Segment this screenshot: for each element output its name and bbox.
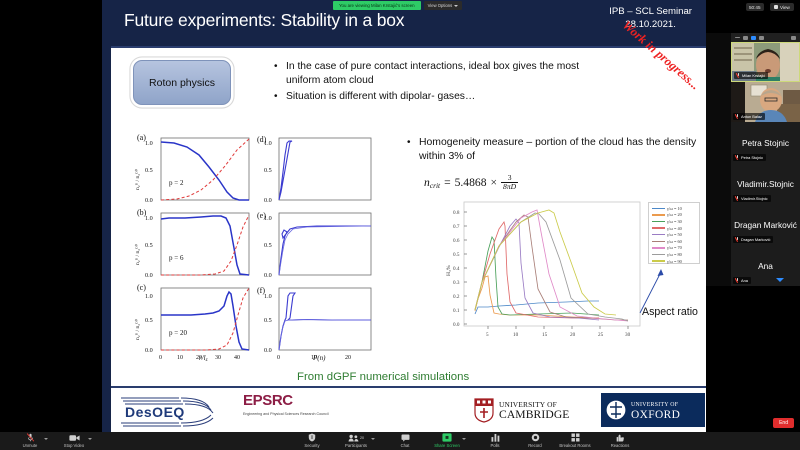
participant-display-name: Ana bbox=[758, 261, 773, 271]
toolbar-button-breakout-rooms[interactable]: Breakout Rooms bbox=[553, 434, 597, 448]
svg-text:20: 20 bbox=[570, 332, 576, 338]
svg-text:0.5: 0.5 bbox=[145, 317, 153, 324]
participant-display-name: Petra Stojnic bbox=[742, 138, 789, 148]
legend-item: γ/ω = 80 bbox=[652, 251, 696, 258]
bullet-dot-icon: • bbox=[274, 90, 286, 104]
svg-text:p = 2: p = 2 bbox=[169, 179, 184, 187]
bullet-text: Situation is different with dipolar- gas… bbox=[286, 90, 604, 104]
svg-text:0.0: 0.0 bbox=[264, 197, 272, 204]
participant-display-name: Vladimir.Stojnic bbox=[737, 179, 794, 189]
participant-nametag: Petra Stojnic bbox=[733, 154, 766, 161]
figure-density-panels: (a) p = 2 1.0 0.5 0.0 n₂ᴰ / n₂ᴰ⁰ (b) p =… bbox=[127, 130, 377, 360]
legend-label: γ/ω = 90 bbox=[667, 259, 682, 264]
svg-text:DesOEQ: DesOEQ bbox=[125, 404, 185, 420]
roton-physics-label: Roton physics bbox=[149, 77, 215, 89]
slide-left-bar bbox=[102, 0, 111, 432]
microphone-muted-icon bbox=[736, 196, 739, 201]
formula-numerator: 3 bbox=[506, 174, 514, 182]
svg-text:20: 20 bbox=[345, 355, 351, 360]
toolbar-label: Participants bbox=[345, 443, 367, 448]
microphone-muted-icon bbox=[26, 434, 35, 442]
meeting-timer: 50:45 bbox=[746, 3, 764, 11]
svg-text:n₂ᴰ / n₂ᴰ⁰: n₂ᴰ / n₂ᴰ⁰ bbox=[134, 318, 141, 340]
svg-text:0.7: 0.7 bbox=[453, 224, 460, 230]
aspect-ratio-annotation: Aspect ratio bbox=[642, 306, 698, 318]
shield-icon bbox=[308, 434, 316, 442]
legend-color-swatch bbox=[652, 241, 665, 242]
svg-text:0.5: 0.5 bbox=[264, 242, 272, 249]
svg-text:0.5: 0.5 bbox=[145, 242, 153, 249]
bullet-list-right: • Homogeneity measure – portion of the c… bbox=[407, 136, 697, 167]
epsrc-logo: EPSRC Engineering and Physical Sciences … bbox=[243, 392, 361, 430]
panel-c-xlabel: r/lz bbox=[199, 354, 208, 363]
microphone-muted-icon bbox=[737, 73, 740, 78]
svg-text:25: 25 bbox=[598, 332, 604, 338]
cambridge-logo: UNIVERSITY OF CAMBRIDGE bbox=[473, 394, 591, 426]
screen-share-banner: You are viewing Milan Krstajić's screen … bbox=[333, 1, 462, 10]
participant-tile-petra[interactable]: Petra Stojnic Petra Stojnic bbox=[731, 122, 800, 163]
participant-nametag: Dragan Marković bbox=[733, 236, 773, 243]
legend-color-swatch bbox=[652, 247, 665, 248]
toolbar-label: Polls bbox=[490, 443, 499, 448]
participant-nametag: Ana bbox=[733, 277, 751, 284]
legend-label: γ/ω = 10 bbox=[667, 206, 682, 211]
layout-icon bbox=[774, 5, 778, 9]
toolbar-button-security[interactable]: Security bbox=[290, 434, 334, 448]
participant-name: Vladimir.Stojnic bbox=[741, 196, 768, 201]
toolbar-button-record[interactable]: Record bbox=[513, 434, 557, 448]
svg-text:1.0: 1.0 bbox=[264, 215, 272, 222]
participant-name: Milan Krstajić bbox=[742, 73, 765, 78]
participant-tile-antun[interactable]: Antun Balaz bbox=[731, 82, 800, 122]
minimize-icon[interactable] bbox=[735, 37, 740, 38]
toolbar-label: Record bbox=[528, 443, 542, 448]
svg-text:H₃%: H₃% bbox=[446, 265, 452, 276]
panel-f-xlabel: P(n) bbox=[313, 354, 325, 362]
toolbar-label: Stop Video bbox=[64, 443, 84, 448]
desoeq-logo: DesOEQ bbox=[119, 393, 231, 429]
legend-label: γ/ω = 70 bbox=[667, 245, 682, 250]
reaction-icon bbox=[616, 434, 625, 442]
svg-text:0.0: 0.0 bbox=[145, 197, 153, 204]
panel-d: (d) 1.0 0.5 0.0 bbox=[257, 135, 371, 204]
bullet-list-left: • In the case of pure contact interactio… bbox=[274, 60, 604, 107]
svg-text:1.0: 1.0 bbox=[145, 140, 153, 147]
participant-name: Antun Balaz bbox=[741, 114, 762, 119]
participant-nametag: Vladimir.Stojnic bbox=[733, 195, 771, 202]
toolbar-button-share-screen[interactable]: Share Screen bbox=[425, 434, 469, 448]
epsrc-subtitle: Engineering and Physical Sciences Resear… bbox=[243, 412, 329, 417]
svg-text:0.3: 0.3 bbox=[453, 280, 460, 286]
end-meeting-button[interactable]: End bbox=[773, 418, 794, 428]
participant-name: Petra Stojnic bbox=[741, 155, 763, 160]
share-screen-icon bbox=[442, 434, 452, 442]
legend-label: γ/ω = 40 bbox=[667, 226, 682, 231]
seminar-name: IPB – SCL Seminar bbox=[609, 5, 692, 18]
cambridge-line2: CAMBRIDGE bbox=[499, 410, 569, 420]
chevron-up-icon[interactable] bbox=[44, 438, 48, 440]
toolbar-label: Security bbox=[304, 443, 319, 448]
legend-color-swatch bbox=[652, 260, 665, 261]
epsrc-wordmark: EPSRC bbox=[243, 392, 361, 409]
legend-color-swatch bbox=[652, 208, 665, 209]
svg-text:p = 6: p = 6 bbox=[169, 254, 184, 262]
formula-equals: = bbox=[444, 176, 451, 189]
toolbar-button-reactions[interactable]: Reactions bbox=[598, 434, 642, 448]
legend-item: γ/ω = 50 bbox=[652, 231, 696, 238]
svg-text:5: 5 bbox=[486, 332, 489, 338]
oxford-crest-icon bbox=[605, 397, 627, 423]
toolbar-label: Share Screen bbox=[434, 443, 460, 448]
participant-nametag: Antun Balaz bbox=[733, 113, 765, 120]
svg-text:30: 30 bbox=[625, 332, 631, 338]
bullet-text: Homogeneity measure – portion of the clo… bbox=[419, 136, 697, 165]
panel-e: (e) 1.0 0.5 0.0 bbox=[257, 211, 371, 279]
svg-text:10: 10 bbox=[513, 332, 519, 338]
footer-divider bbox=[111, 386, 706, 388]
toolbar-label: Reactions bbox=[611, 443, 630, 448]
svg-text:0.4: 0.4 bbox=[453, 266, 460, 272]
svg-text:0.6: 0.6 bbox=[453, 238, 460, 244]
legend-item: γ/ω = 40 bbox=[652, 225, 696, 232]
chevron-up-icon[interactable] bbox=[371, 438, 375, 440]
list-item: • Situation is different with dipolar- g… bbox=[274, 90, 604, 104]
participant-display-name: Dragan Marković bbox=[734, 220, 797, 230]
panel-a: (a) p = 2 1.0 0.5 0.0 n₂ᴰ / n₂ᴰ⁰ bbox=[134, 133, 249, 204]
legend-color-swatch bbox=[652, 254, 665, 255]
bullet-text: In the case of pure contact interactions… bbox=[286, 60, 604, 88]
microphone-muted-icon bbox=[736, 114, 739, 119]
roton-physics-box: Roton physics bbox=[133, 60, 231, 105]
svg-text:0.0: 0.0 bbox=[453, 322, 460, 328]
svg-text:0.0: 0.0 bbox=[145, 272, 153, 279]
svg-text:30: 30 bbox=[215, 355, 221, 360]
legend-item: γ/ω = 10 bbox=[652, 205, 696, 212]
chat-bubble-icon bbox=[401, 434, 410, 442]
toolbar-button-unmute[interactable]: Unmute bbox=[8, 434, 52, 448]
slide-caption: From dGPF numerical simulations bbox=[297, 371, 469, 383]
svg-text:n₂ᴰ / n₂ᴰ⁰: n₂ᴰ / n₂ᴰ⁰ bbox=[134, 243, 141, 265]
legend-item: γ/ω = 90 bbox=[652, 258, 696, 265]
participant-nametag: Milan Krstajić bbox=[734, 72, 768, 79]
svg-text:40: 40 bbox=[234, 355, 240, 360]
svg-text:(c): (c) bbox=[137, 283, 146, 292]
chevron-up-icon[interactable] bbox=[462, 438, 466, 440]
collapse-strip-icon[interactable] bbox=[791, 36, 796, 40]
participant-name: Dragan Marković bbox=[741, 237, 770, 242]
microphone-muted-icon bbox=[736, 278, 739, 283]
legend-color-swatch bbox=[652, 221, 665, 222]
list-item: • Homogeneity measure – portion of the c… bbox=[407, 136, 697, 165]
panel-b: (b) p = 6 1.0 0.5 0.0 n₂ᴰ / n₂ᴰ⁰ bbox=[134, 208, 249, 279]
toolbar-label: Breakout Rooms bbox=[559, 443, 590, 448]
legend-label: γ/ω = 30 bbox=[667, 219, 682, 224]
legend-item: γ/ω = 70 bbox=[652, 245, 696, 252]
presentation-slide: Future experiments: Stability in a box I… bbox=[102, 0, 706, 432]
svg-text:0.0: 0.0 bbox=[264, 347, 272, 354]
toolbar-button-polls[interactable]: Polls bbox=[473, 434, 517, 448]
svg-text:p = 20: p = 20 bbox=[169, 329, 187, 337]
density-panels-svg: (a) p = 2 1.0 0.5 0.0 n₂ᴰ / n₂ᴰ⁰ (b) p =… bbox=[127, 130, 377, 360]
svg-text:10: 10 bbox=[177, 355, 183, 360]
svg-text:1.0: 1.0 bbox=[264, 140, 272, 147]
legend-item: γ/ω = 60 bbox=[652, 238, 696, 245]
microphone-muted-icon bbox=[736, 155, 739, 160]
svg-text:n₂ᴰ / n₂ᴰ⁰: n₂ᴰ / n₂ᴰ⁰ bbox=[134, 168, 141, 190]
logo-strip: DesOEQ EPSRC Engineering and Physical Sc… bbox=[111, 389, 706, 432]
people-icon: 20 bbox=[348, 434, 364, 442]
bullet-dot-icon: • bbox=[274, 60, 286, 88]
legend-color-swatch bbox=[652, 214, 665, 215]
formula-lhs-sub: crit bbox=[430, 181, 440, 190]
meeting-toolbar: UnmuteStop VideoSecurity20ParticipantsCh… bbox=[0, 432, 800, 450]
view-options-button[interactable]: View Options bbox=[424, 1, 463, 10]
chevron-down-icon bbox=[454, 5, 458, 7]
slide-title: Future experiments: Stability in a box bbox=[124, 10, 404, 31]
rail-bottom-area: End bbox=[706, 286, 800, 432]
bullet-dot-icon: • bbox=[407, 136, 419, 165]
legend-color-swatch bbox=[652, 227, 665, 228]
panel-c: (c) p = 20 1.0 0.5 0.0 n₂ᴰ / n₂ᴰ⁰ 0 10 2… bbox=[134, 283, 249, 360]
oxford-logo: UNIVERSITY OF OXFORD bbox=[601, 393, 705, 427]
toolbar-button-stop-video[interactable]: Stop Video bbox=[52, 434, 96, 448]
svg-text:1.0: 1.0 bbox=[145, 293, 153, 300]
camera-icon bbox=[69, 434, 80, 442]
list-item: • In the case of pure contact interactio… bbox=[274, 60, 604, 88]
formula-times: × bbox=[491, 176, 498, 189]
record-icon bbox=[531, 434, 540, 442]
participant-name: Ana bbox=[741, 278, 748, 283]
zoom-meeting-window: You are viewing Milan Krstajić's screen … bbox=[0, 0, 800, 450]
grid-icon bbox=[571, 434, 580, 442]
bar-chart-icon bbox=[491, 434, 500, 442]
cambridge-crest-icon bbox=[473, 397, 495, 423]
participants-count: 20 bbox=[360, 436, 364, 440]
toolbar-label: Unmute bbox=[23, 443, 38, 448]
n-crit-formula: ncrit = 5.4868 × 3 8πD bbox=[424, 174, 518, 192]
microphone-muted-icon bbox=[736, 237, 739, 242]
participant-tile-ana[interactable]: Ana Ana bbox=[731, 245, 800, 286]
participant-tile-vladimir[interactable]: Vladimir.Stojnic Vladimir.Stojnic bbox=[731, 163, 800, 204]
chart-legend: γ/ω = 10γ/ω = 20γ/ω = 30γ/ω = 40γ/ω = 50… bbox=[648, 202, 700, 264]
legend-item: γ/ω = 30 bbox=[652, 218, 696, 225]
svg-text:0.5: 0.5 bbox=[453, 252, 460, 258]
svg-text:0.2: 0.2 bbox=[453, 294, 460, 300]
speaker-view-icon[interactable] bbox=[743, 36, 748, 40]
view-layout-button[interactable]: View bbox=[770, 3, 794, 11]
svg-text:1.0: 1.0 bbox=[145, 215, 153, 222]
legend-item: γ/ω = 20 bbox=[652, 212, 696, 219]
toolbar-label: Chat bbox=[401, 443, 410, 448]
svg-text:0.8: 0.8 bbox=[453, 210, 460, 216]
toolbar-button-chat[interactable]: Chat bbox=[383, 434, 427, 448]
toolbar-button-participants[interactable]: 20Participants bbox=[334, 434, 378, 448]
formula-denominator: 8πD bbox=[501, 182, 518, 191]
rail-top-bar: 50:45 View bbox=[706, 0, 800, 33]
slide-header-underline bbox=[111, 46, 706, 48]
svg-text:0.5: 0.5 bbox=[264, 167, 272, 174]
oxford-line2: OXFORD bbox=[631, 410, 680, 420]
legend-label: γ/ω = 60 bbox=[667, 239, 682, 244]
gallery-view-icon[interactable] bbox=[751, 36, 756, 40]
scroll-down-icon[interactable] bbox=[776, 278, 784, 282]
shared-screen-area: You are viewing Milan Krstajić's screen … bbox=[0, 0, 706, 432]
participants-rail: 50:45 View bbox=[706, 0, 800, 432]
panel-f: (f) 1.0 0.5 0.0 0 10 20 bbox=[257, 286, 371, 360]
legend-label: γ/ω = 50 bbox=[667, 232, 682, 237]
legend-color-swatch bbox=[652, 234, 665, 235]
view-label: View bbox=[780, 5, 790, 10]
svg-text:0.5: 0.5 bbox=[145, 167, 153, 174]
svg-text:15: 15 bbox=[542, 332, 548, 338]
participant-tile-milan[interactable]: Milan Krstajić bbox=[731, 42, 800, 82]
svg-text:1.0: 1.0 bbox=[264, 293, 272, 300]
share-banner-text: You are viewing Milan Krstajić's screen bbox=[333, 1, 421, 10]
chevron-up-icon[interactable] bbox=[88, 438, 92, 440]
svg-text:0.5: 0.5 bbox=[264, 317, 272, 324]
svg-text:0.1: 0.1 bbox=[453, 308, 460, 314]
grid-view-icon[interactable] bbox=[759, 36, 764, 40]
figure-homogeneity: 0.00.10.2 0.30.40.5 0.60.70.8 51015 bbox=[420, 196, 706, 356]
legend-label: γ/ω = 20 bbox=[667, 212, 682, 217]
view-options-label: View Options bbox=[428, 3, 453, 8]
svg-text:0: 0 bbox=[159, 355, 162, 360]
legend-label: γ/ω = 80 bbox=[667, 252, 682, 257]
svg-text:0.0: 0.0 bbox=[145, 347, 153, 354]
video-strip-controls[interactable] bbox=[731, 33, 800, 42]
formula-coefficient: 5.4868 bbox=[455, 176, 487, 189]
svg-text:0: 0 bbox=[277, 355, 280, 360]
svg-text:0.0: 0.0 bbox=[264, 272, 272, 279]
participant-tile-dragan[interactable]: Dragan Marković Dragan Marković bbox=[731, 204, 800, 245]
formula-fraction: 3 8πD bbox=[501, 174, 518, 192]
